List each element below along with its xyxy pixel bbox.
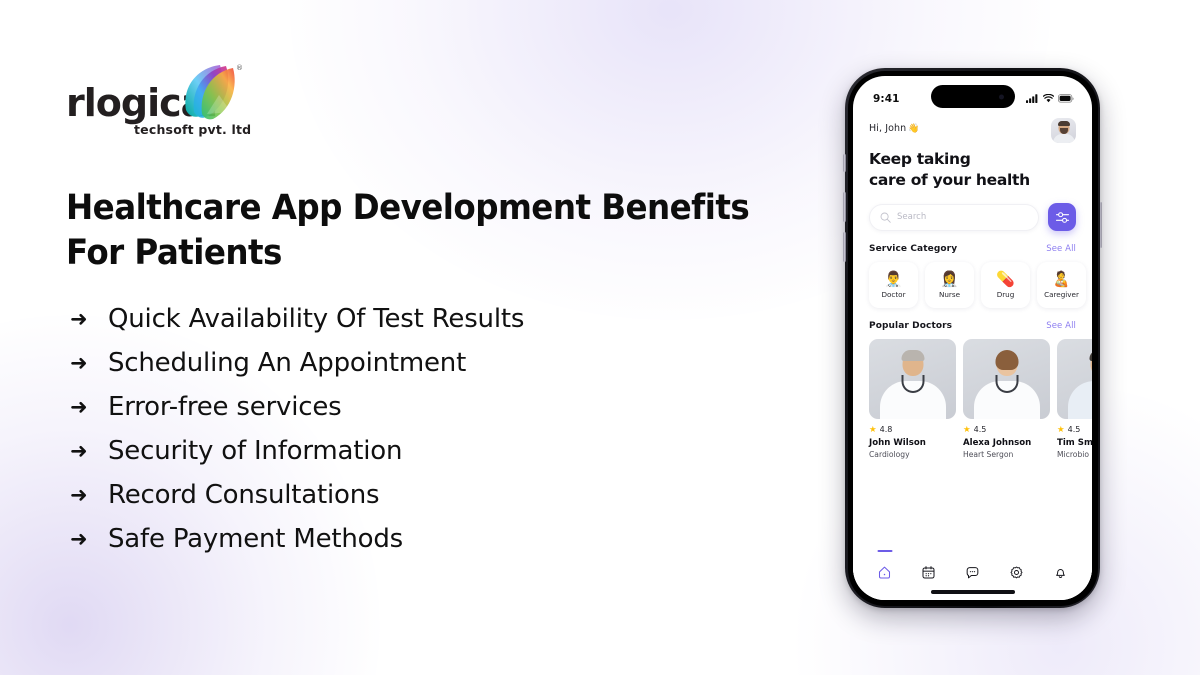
list-item-label: Error-free services: [108, 391, 342, 424]
list-item-label: Quick Availability Of Test Results: [108, 303, 524, 336]
cellular-signal-icon: [1026, 94, 1039, 103]
bell-icon: [1053, 565, 1068, 580]
list-item: ➜ Error-free services: [70, 391, 790, 424]
tab-home[interactable]: [870, 557, 900, 587]
section-title: Popular Doctors: [869, 321, 952, 331]
list-item: ➜ Security of Information: [70, 435, 790, 468]
category-card-doctor[interactable]: 👨‍⚕️ Doctor: [869, 262, 918, 308]
wave-emoji-icon: 👋: [908, 124, 919, 134]
star-icon: ★: [963, 425, 971, 434]
calendar-icon: [921, 565, 936, 580]
doctor-icon: 👨‍⚕️: [884, 272, 903, 287]
phone-screen: 9:41: [853, 76, 1092, 600]
hero-line-2: care of your health: [869, 170, 1076, 191]
home-indicator: [931, 590, 1015, 594]
search-placeholder: Search: [897, 212, 926, 222]
front-camera-icon: [999, 94, 1004, 99]
doctor-photo: [963, 339, 1050, 419]
service-category-header: Service Category See All: [853, 231, 1092, 254]
category-label: Doctor: [881, 290, 905, 299]
rating-value: 4.5: [974, 425, 987, 434]
status-time: 9:41: [873, 93, 900, 105]
logo-tagline: techsoft pvt. ltd: [134, 122, 251, 137]
arrow-bullet-icon: ➜: [70, 485, 108, 506]
category-label: Caregiver: [1044, 290, 1079, 299]
list-item-label: Security of Information: [108, 435, 402, 468]
arrow-bullet-icon: ➜: [70, 397, 108, 418]
category-label: Nurse: [939, 290, 960, 299]
popular-doctors-header: Popular Doctors See All: [853, 308, 1092, 331]
benefits-list: ➜ Quick Availability Of Test Results ➜ S…: [70, 303, 790, 567]
avatar-body: [1053, 134, 1075, 143]
tab-settings[interactable]: [1001, 557, 1031, 587]
category-card-caregiver[interactable]: 🧑‍🍼 Caregiver: [1037, 262, 1086, 308]
logo-registered-mark: ®: [236, 64, 243, 72]
filter-sliders-icon: [1055, 210, 1070, 225]
volume-down-button[interactable]: [843, 232, 846, 262]
doctor-name: Alexa Johnson: [963, 434, 1050, 448]
active-tab-indicator: [877, 550, 892, 552]
popular-doctors-list: ★ 4.8 John Wilson Cardiology: [853, 331, 1092, 459]
avatar-hair: [1058, 121, 1070, 126]
list-item: ➜ Quick Availability Of Test Results: [70, 303, 790, 336]
list-item-label: Safe Payment Methods: [108, 523, 403, 556]
silent-switch-button[interactable]: [843, 154, 846, 172]
doctor-hair: [901, 350, 924, 361]
tab-notifications[interactable]: [1045, 557, 1075, 587]
app-content: Hi, John👋 Keep taking care of your healt…: [853, 112, 1092, 600]
avatar[interactable]: [1051, 118, 1076, 143]
doctor-rating: ★ 4.8: [869, 419, 956, 434]
power-button[interactable]: [1100, 202, 1103, 248]
doctor-specialty: Heart Sergon: [963, 448, 1050, 459]
doctor-card[interactable]: ★ 4.5 Alexa Johnson Heart Sergon: [963, 339, 1050, 459]
list-item: ➜ Safe Payment Methods: [70, 523, 790, 556]
page-title: Healthcare App Development Benefits For …: [66, 186, 754, 276]
search-row: Search: [853, 191, 1092, 231]
dynamic-island: [931, 85, 1015, 108]
category-card-drug[interactable]: 💊 Drug: [981, 262, 1030, 308]
doctor-name: Tim Sm: [1057, 434, 1092, 448]
service-category-list: 👨‍⚕️ Doctor 👩‍⚕️ Nurse 💊 Drug 🧑‍🍼 Caregi…: [853, 254, 1092, 308]
rating-value: 4.5: [1068, 425, 1081, 434]
chat-icon: [965, 565, 980, 580]
doctor-photo: [869, 339, 956, 419]
arrow-bullet-icon: ➜: [70, 309, 108, 330]
doctor-card[interactable]: ★ 4.8 John Wilson Cardiology: [869, 339, 956, 459]
doctor-hair: [1089, 350, 1092, 361]
doctor-photo: [1057, 339, 1092, 419]
doctor-card[interactable]: ★ 4.5 Tim Sm Microbio: [1057, 339, 1092, 459]
volume-up-button[interactable]: [843, 192, 846, 222]
list-item: ➜ Scheduling An Appointment: [70, 347, 790, 380]
doctor-hair: [995, 350, 1018, 370]
slide-canvas: rlogical techsoft pvt. ltd: [0, 0, 1200, 675]
arrow-bullet-icon: ➜: [70, 441, 108, 462]
greeting-text: Hi, John👋: [869, 118, 920, 134]
star-icon: ★: [869, 425, 877, 434]
home-icon: [877, 565, 892, 580]
arrow-bullet-icon: ➜: [70, 529, 108, 550]
tab-calendar[interactable]: [914, 557, 944, 587]
list-item-label: Scheduling An Appointment: [108, 347, 466, 380]
see-all-popular-doctors[interactable]: See All: [1046, 321, 1076, 331]
drug-icon: 💊: [996, 272, 1015, 287]
hero-heading: Keep taking care of your health: [853, 143, 1092, 191]
greeting-row: Hi, John👋: [853, 112, 1092, 143]
rating-value: 4.8: [880, 425, 893, 434]
category-card-nurse[interactable]: 👩‍⚕️ Nurse: [925, 262, 974, 308]
hero-line-1: Keep taking: [869, 149, 1076, 170]
company-logo: rlogical techsoft pvt. ltd: [66, 62, 316, 144]
greeting-label: Hi, John: [869, 123, 906, 134]
caregiver-icon: 🧑‍🍼: [1052, 272, 1071, 287]
doctor-rating: ★ 4.5: [963, 419, 1050, 434]
tab-chat[interactable]: [957, 557, 987, 587]
logo-leaf-icon: [180, 62, 238, 124]
status-indicators: [1026, 94, 1074, 103]
section-title: Service Category: [869, 244, 957, 254]
doctor-rating: ★ 4.5: [1057, 419, 1092, 434]
wifi-icon: [1043, 94, 1054, 103]
doctor-name: John Wilson: [869, 434, 956, 448]
doctor-specialty: Cardiology: [869, 448, 956, 459]
category-label: Drug: [997, 290, 1015, 299]
list-item: ➜ Record Consultations: [70, 479, 790, 512]
battery-icon: [1058, 94, 1074, 103]
gear-icon: [1009, 565, 1024, 580]
list-item-label: Record Consultations: [108, 479, 379, 512]
phone-mockup: 9:41: [845, 68, 1100, 608]
star-icon: ★: [1057, 425, 1065, 434]
search-icon: [880, 212, 891, 223]
arrow-bullet-icon: ➜: [70, 353, 108, 374]
see-all-service-category[interactable]: See All: [1046, 244, 1076, 254]
doctor-specialty: Microbio: [1057, 448, 1092, 459]
nurse-icon: 👩‍⚕️: [940, 272, 959, 287]
filter-button[interactable]: [1048, 203, 1076, 231]
doctor-coat: [1068, 381, 1093, 419]
search-input[interactable]: Search: [869, 204, 1039, 231]
